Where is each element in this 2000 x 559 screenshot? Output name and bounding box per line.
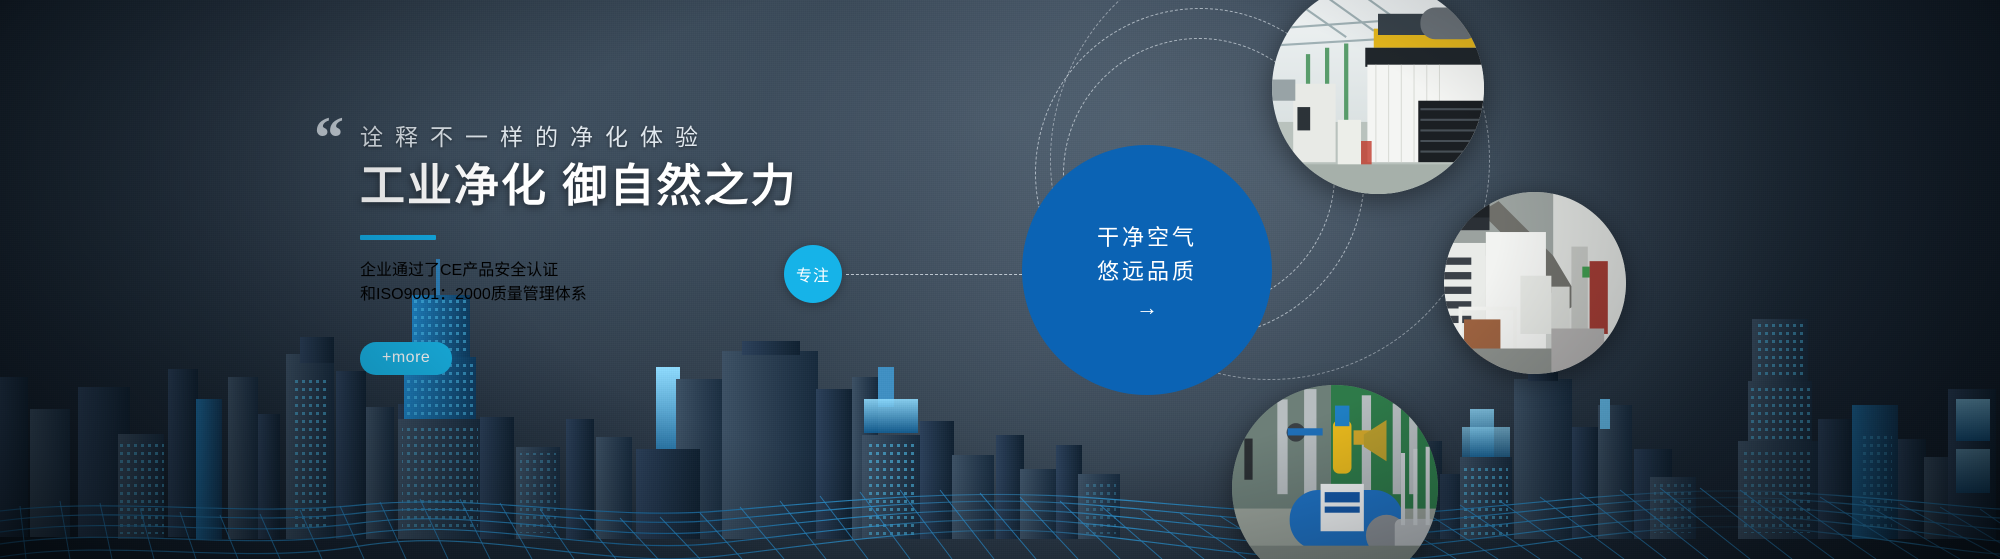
hero-copy: “ 诠释不一样的净化体验 工业净化 御自然之力 企业通过了CE产品安全认证 和I… bbox=[360, 118, 980, 375]
arrow-right-icon: → bbox=[1136, 297, 1158, 319]
photo-industrial-plant-interior[interactable] bbox=[1272, 0, 1484, 194]
hero-banner: “ 诠释不一样的净化体验 工业净化 御自然之力 企业通过了CE产品安全认证 和I… bbox=[0, 0, 2000, 559]
quote-icon: “ bbox=[314, 108, 342, 168]
hero-circle[interactable]: 干净空气 悠远品质 → bbox=[1022, 145, 1272, 395]
photo-textile-machinery-hall[interactable] bbox=[1444, 192, 1626, 374]
accent-rule bbox=[360, 235, 436, 240]
connector-line bbox=[846, 274, 1022, 275]
focus-badge[interactable]: 专注 bbox=[784, 245, 842, 303]
city-skyline-graphic bbox=[0, 259, 2000, 559]
eyebrow-text: 诠释不一样的净化体验 bbox=[360, 118, 980, 152]
focus-badge-label: 专注 bbox=[796, 262, 830, 286]
hero-circle-line-2: 悠远品质 bbox=[1097, 255, 1197, 289]
more-button[interactable]: +more bbox=[360, 342, 452, 375]
hero-circle-line-1: 干净空气 bbox=[1097, 221, 1197, 255]
page-title: 工业净化 御自然之力 bbox=[360, 158, 980, 214]
description-line-2: 和ISO9001：2000质量管理体系 bbox=[360, 280, 980, 304]
description-line-1: 企业通过了CE产品安全认证 bbox=[360, 256, 980, 280]
